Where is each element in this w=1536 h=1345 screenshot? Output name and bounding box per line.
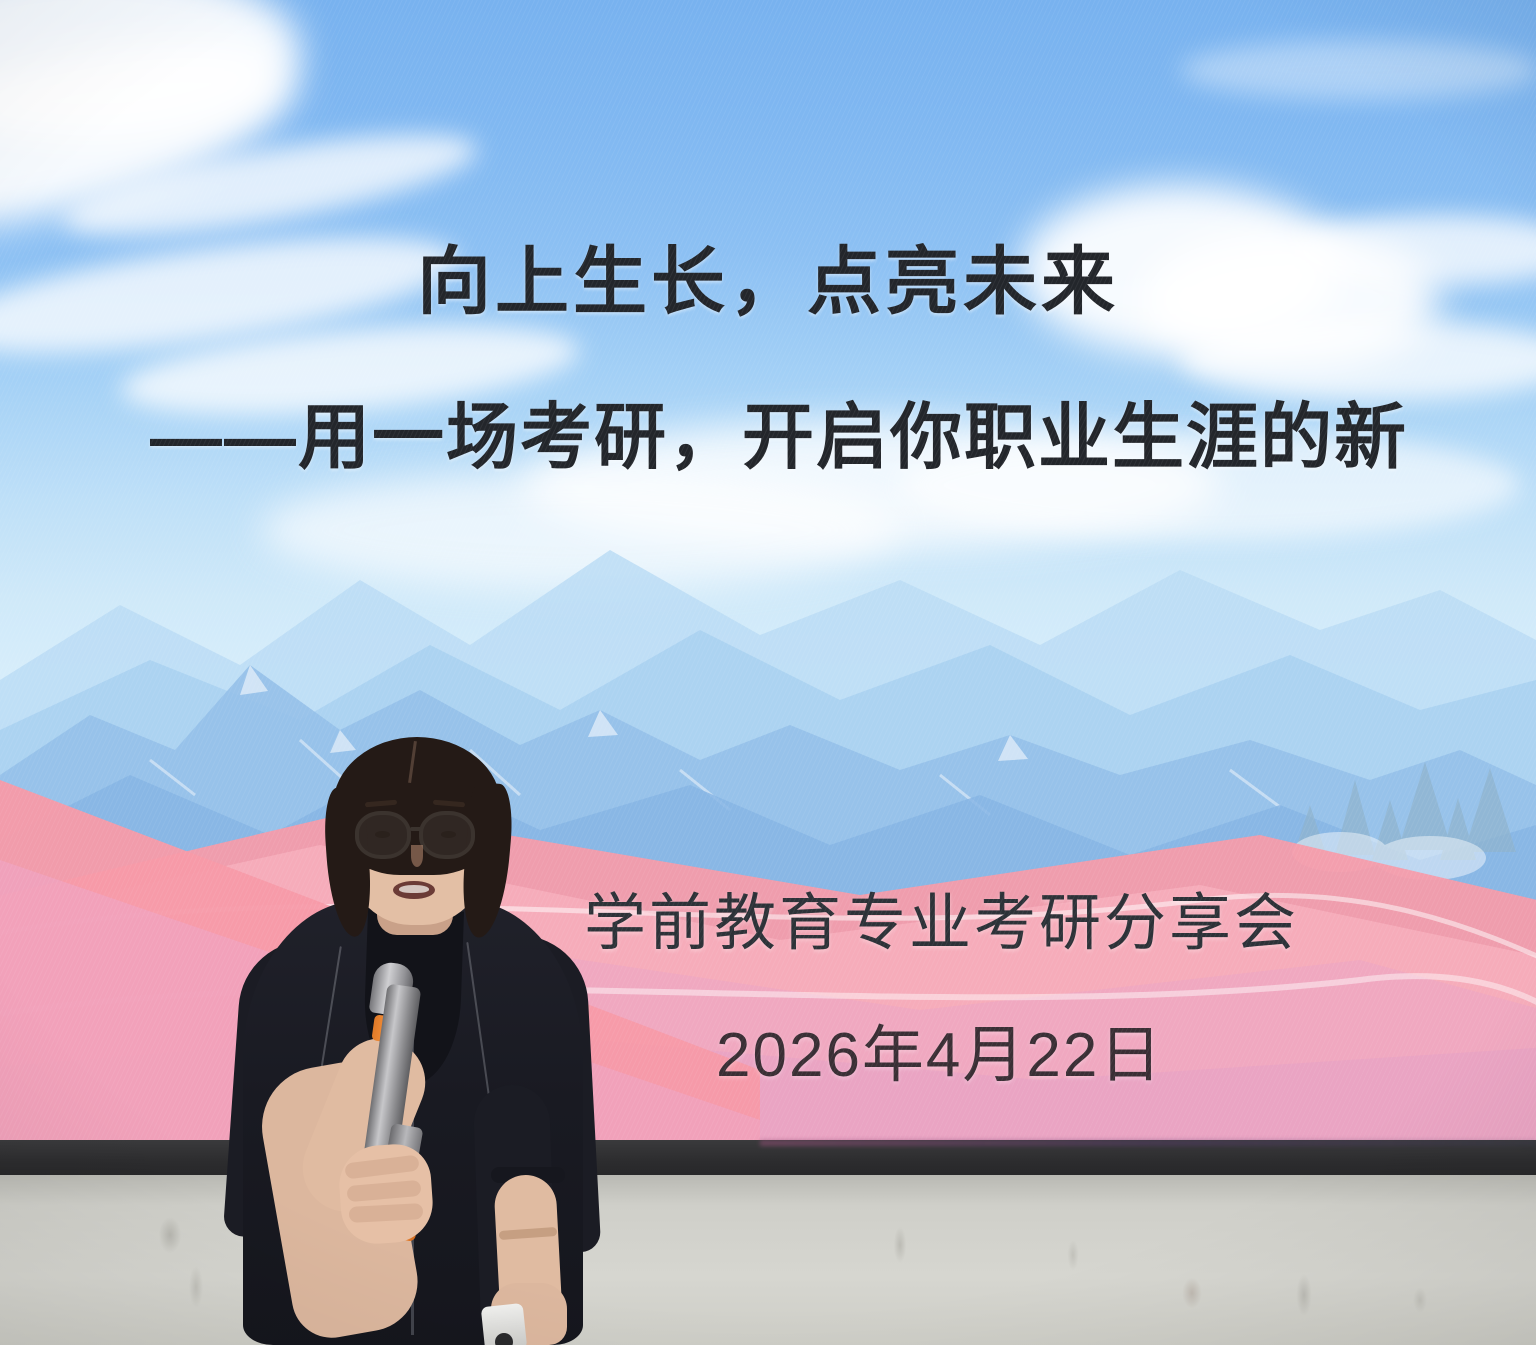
slide-date: 2026年4月22日: [716, 1004, 1163, 1094]
speaker-nose: [411, 845, 423, 867]
slide-event-name: 学前教育专业考研分享会: [584, 872, 1299, 962]
speaker-figure: [215, 735, 615, 1345]
screen-edge-glow: [760, 1140, 1536, 1146]
slide-subtitle: ——用一场考研，开启你职业生涯的新: [150, 378, 1408, 483]
glasses-bridge-icon: [410, 827, 422, 831]
speaker-teeth: [399, 885, 429, 893]
speaker-eye-left: [375, 831, 390, 838]
handheld-object-detail: [495, 1333, 513, 1345]
speaker-eye-right: [441, 831, 456, 838]
screenshot-root: 向上生长，点亮未来 ——用一场考研，开启你职业生涯的新 学前教育专业考研分享会 …: [0, 0, 1536, 1345]
slide-title: 向上生长，点亮未来: [0, 222, 1536, 329]
